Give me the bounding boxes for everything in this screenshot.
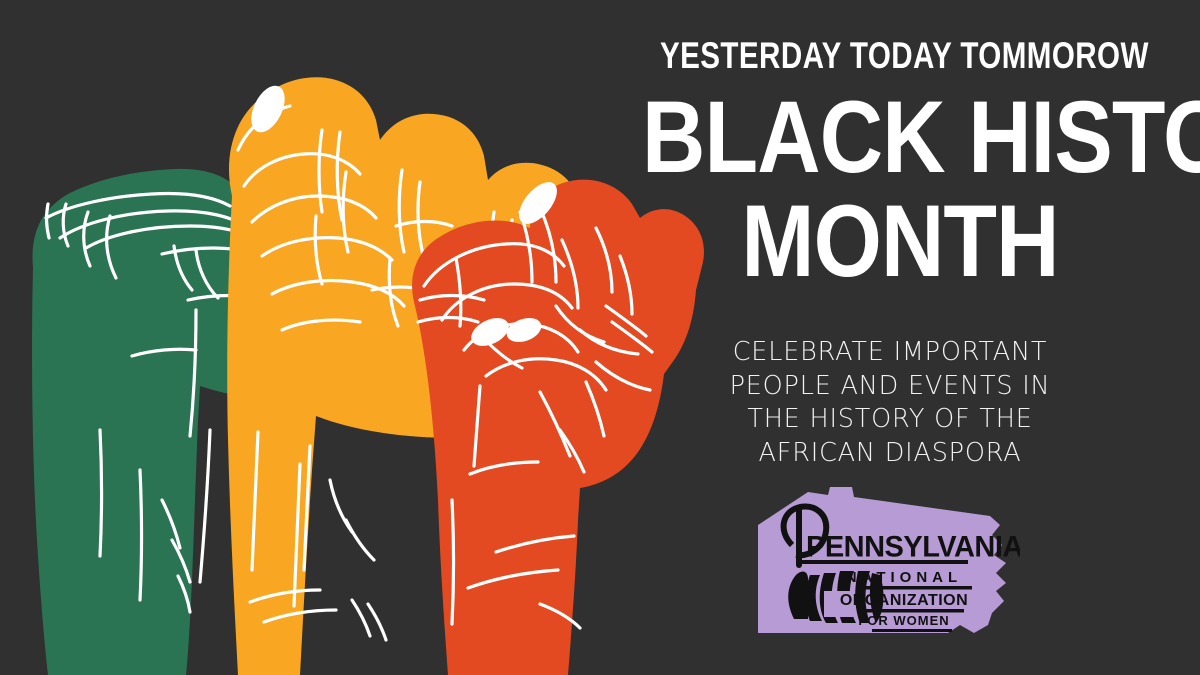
body-line-1: CELEBRATE IMPORTANT: [610, 336, 1170, 370]
body-line-3: THE HISTORY OF THE: [610, 403, 1170, 437]
pennsylvania-now-logo: PENNSYLVANIA NATIONAL ORGANIZATION: [752, 487, 1020, 639]
body-line-2: PEOPLE AND EVENTS IN: [610, 370, 1170, 404]
page-title-line-2: MONTH: [642, 192, 1158, 292]
page-title-line-1: BLACK HISTORY: [642, 88, 1158, 188]
logo-line-3: FOR WOMEN: [858, 613, 949, 628]
logo-wordmark: PENNSYLVANIA: [806, 530, 1020, 563]
poster-canvas: YESTERDAY TODAY TOMMOROW BLACK HISTORY M…: [0, 0, 1200, 675]
logo-line-1: NATIONAL: [846, 569, 962, 586]
logo-rule-1: [798, 560, 968, 564]
logo-rule-4: [872, 629, 952, 632]
body-copy: CELEBRATE IMPORTANT PEOPLE AND EVENTS IN…: [610, 336, 1170, 471]
eyebrow-text: YESTERDAY TODAY TOMMOROW: [660, 35, 1140, 77]
logo-line-2: ORGANIZATION: [840, 592, 968, 609]
logo-rule-3: [860, 609, 964, 613]
logo-rule-2: [856, 586, 972, 590]
text-column: YESTERDAY TODAY TOMMOROW BLACK HISTORY M…: [600, 0, 1200, 675]
body-line-4: AFRICAN DIASPORA: [610, 437, 1170, 471]
